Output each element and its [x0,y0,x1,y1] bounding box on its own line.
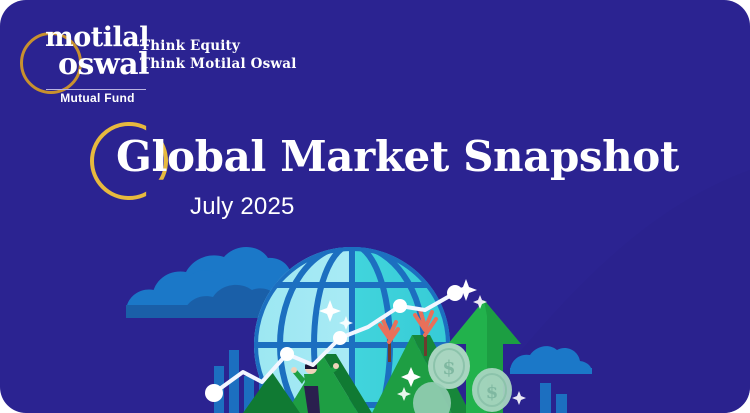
bar-chart-right-icon [540,383,567,413]
cloud-left-icon [126,247,292,318]
tagline-line-1: Think Equity [140,37,297,55]
sparkle-icon [319,279,526,405]
person-icon [291,362,339,413]
background-sweep [470,170,750,413]
cloud-right-icon [510,346,592,374]
brand-subtitle: Mutual Fund [46,91,149,105]
globe-icon [250,240,454,413]
bar-chart-left-icon [214,350,284,413]
tagline-line-2: Think Motilal Oswal [140,55,297,73]
dollar-coin-icon: $ $ [413,343,512,413]
brand-name: motilal oswal [14,26,149,78]
svg-text:$: $ [486,382,499,403]
page-subtitle: July 2025 [190,193,295,221]
line-chart-icon [205,285,463,402]
mountain-icon [243,335,470,413]
poster-container: $ $ [0,0,750,413]
page-title: Global Market Snapshot [116,132,679,181]
logo-divider [46,89,146,90]
svg-text:$: $ [442,357,455,379]
green-arrow-up-icon [448,300,521,413]
tree-icon [380,310,436,362]
brand-name-line-2: oswal [14,51,149,79]
brand-tagline: Think Equity Think Motilal Oswal [140,37,297,73]
